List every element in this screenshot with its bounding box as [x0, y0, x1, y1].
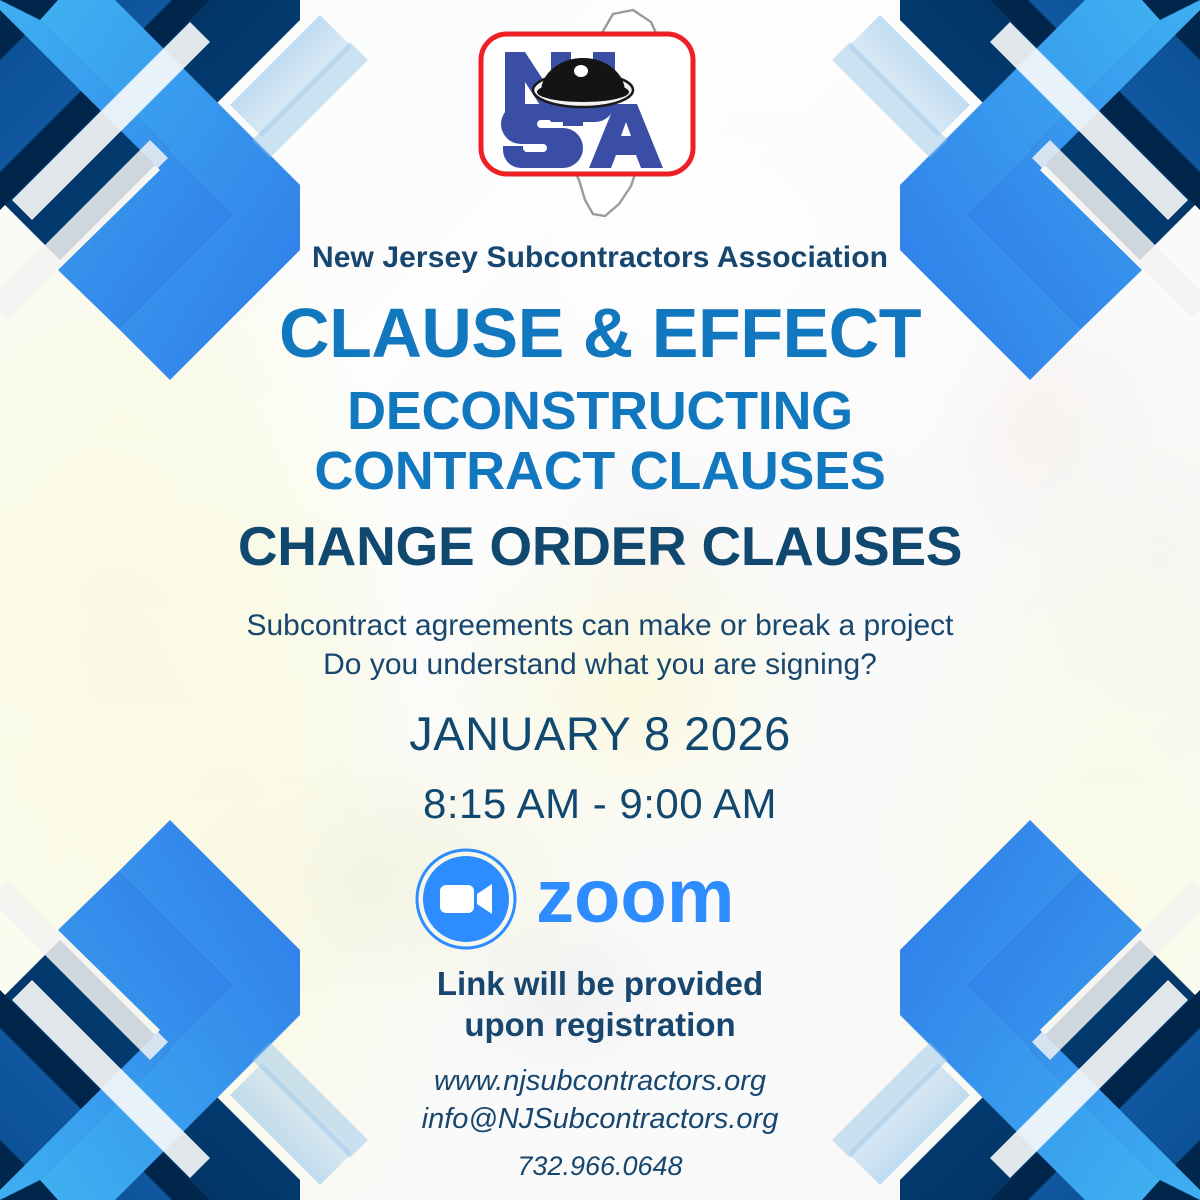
registration-note-line-2: upon registration — [0, 1004, 1200, 1045]
event-time: 8:15 AM - 9:00 AM — [0, 783, 1200, 825]
registration-note-line-1: Link will be provided — [0, 963, 1200, 1004]
zoom-wordmark: zoom — [536, 860, 786, 938]
contact-email[interactable]: info@NJSubcontractors.org — [0, 1101, 1200, 1139]
poster-content: New Jersey Subcontractors Association CL… — [0, 0, 1200, 1184]
contact-website[interactable]: www.njsubcontractors.org — [0, 1063, 1200, 1101]
headline-secondary-line-1: DECONSTRUCTING — [0, 381, 1200, 441]
event-date: JANUARY 8 2026 — [0, 710, 1200, 757]
organization-name: New Jersey Subcontractors Association — [0, 243, 1200, 273]
contact-block: www.njsubcontractors.org info@NJSubcontr… — [0, 1063, 1200, 1183]
zoom-camera-icon — [414, 847, 518, 951]
zoom-wordmark-text: zoom — [536, 860, 734, 938]
subcopy-line-2: Do you understand what you are signing? — [0, 645, 1200, 684]
contact-phone[interactable]: 732.966.0648 — [0, 1149, 1200, 1184]
poster-canvas: New Jersey Subcontractors Association CL… — [0, 0, 1200, 1200]
subcopy: Subcontract agreements can make or break… — [0, 606, 1200, 684]
zoom-logo-lockup: zoom — [0, 847, 1200, 951]
headline-secondary-line-2: CONTRACT CLAUSES — [0, 441, 1200, 501]
headline-topic: CHANGE ORDER CLAUSES — [0, 518, 1200, 576]
headline-secondary: DECONSTRUCTING CONTRACT CLAUSES — [0, 381, 1200, 502]
registration-note: Link will be provided upon registration — [0, 963, 1200, 1046]
headline-primary: CLAUSE & EFFECT — [0, 298, 1200, 368]
subcopy-line-1: Subcontract agreements can make or break… — [0, 606, 1200, 645]
